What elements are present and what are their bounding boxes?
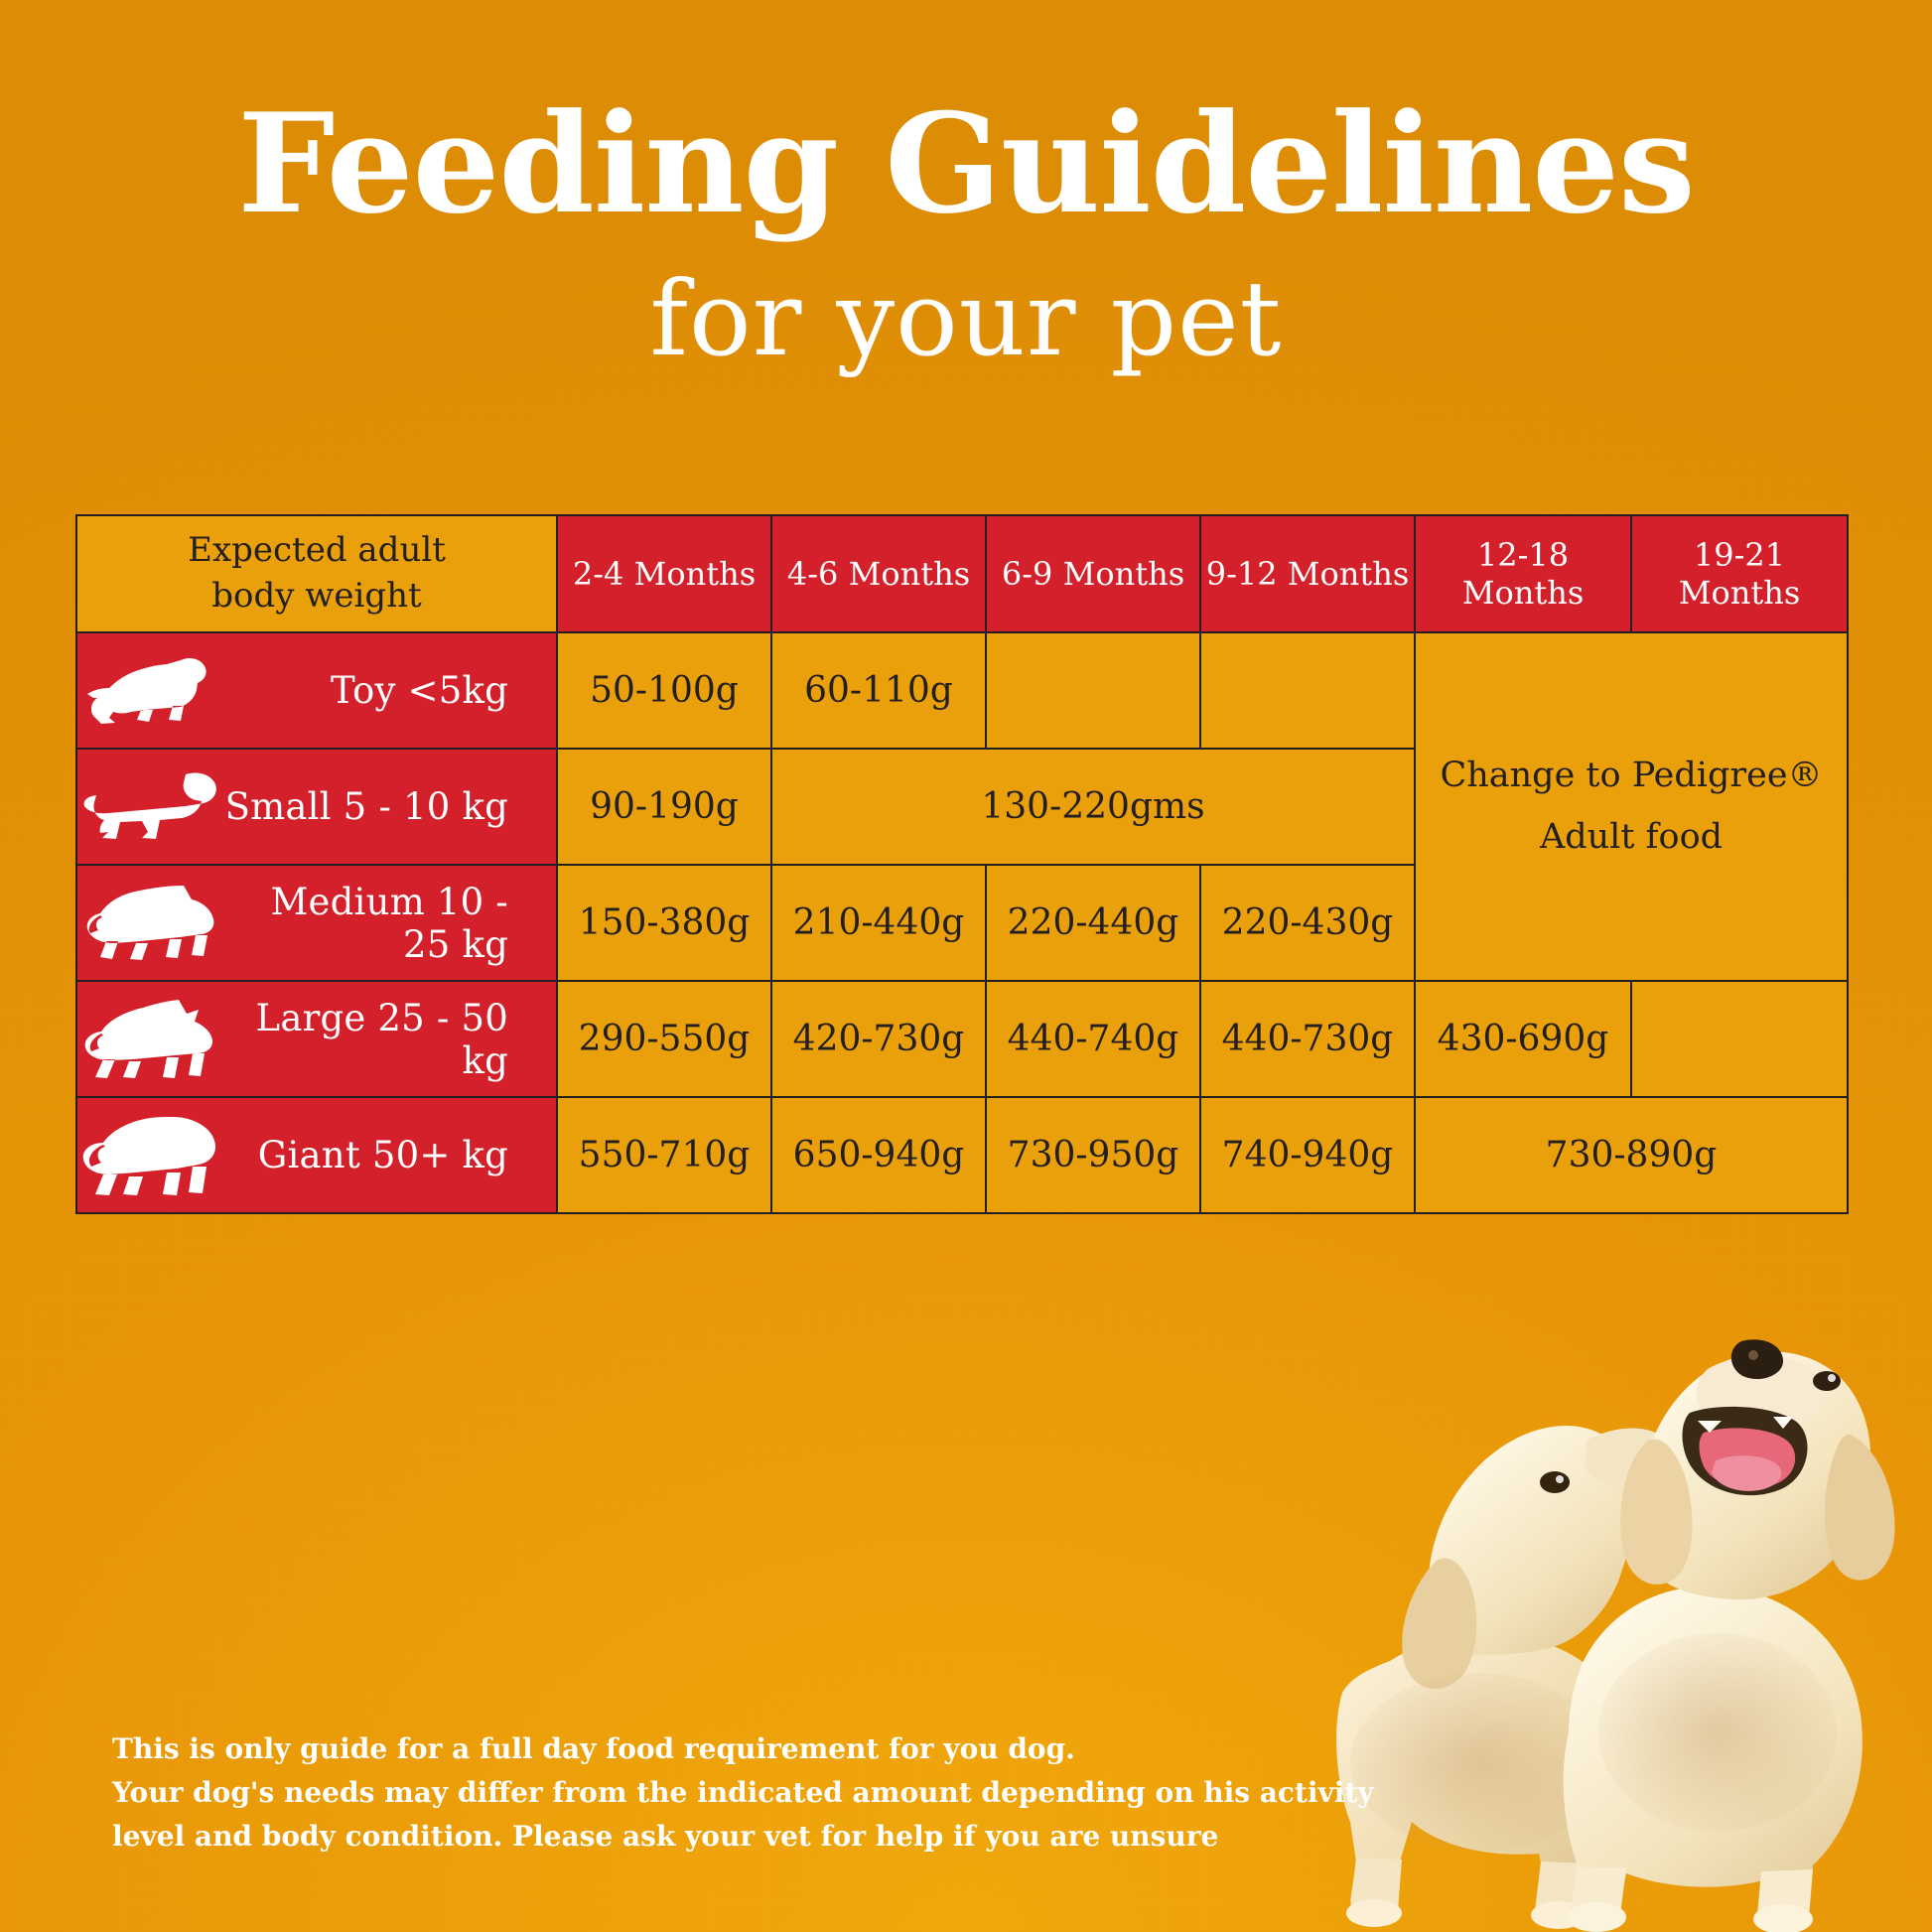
cell-medium-6-9: 220-440g: [986, 865, 1200, 981]
cell-large-2-4: 290-550g: [557, 981, 771, 1097]
cell-giant-2-4: 550-710g: [557, 1097, 771, 1213]
page-title: Feeding Guidelines: [0, 95, 1932, 232]
dog-toy-icon: [77, 648, 224, 734]
cell-medium-9-12: 220-430g: [1200, 865, 1415, 981]
size-cell-giant: Giant 50+ kg: [76, 1097, 557, 1213]
cell-large-4-6: 420-730g: [771, 981, 986, 1097]
disclaimer-line-3: level and body condition. Please ask you…: [112, 1815, 1284, 1859]
dog-giant-icon: [77, 1113, 224, 1198]
disclaimer-line-2: Your dog's needs may differ from the ind…: [112, 1771, 1284, 1815]
table-row: Large 25 - 50 kg 290-550g 420-730g 440-7…: [76, 981, 1848, 1097]
column-header-6-9-months: 6-9 Months: [986, 515, 1200, 632]
cell-toy-6-9: [986, 632, 1200, 749]
cell-giant-9-12: 740-940g: [1200, 1097, 1415, 1213]
column-header-19-21-months: 19-21 Months: [1631, 515, 1848, 632]
size-label-small: Small 5 - 10 kg: [224, 785, 556, 828]
size-label-medium: Medium 10 - 25 kg: [224, 881, 556, 966]
disclaimer-line-1: This is only guide for a full day food r…: [112, 1727, 1284, 1771]
disclaimer-text: This is only guide for a full day food r…: [112, 1727, 1284, 1860]
cell-medium-2-4: 150-380g: [557, 865, 771, 981]
transition-note-line2: Adult food: [1416, 807, 1847, 868]
corner-label-line1: Expected adult: [77, 528, 556, 574]
cell-medium-4-6: 210-440g: [771, 865, 986, 981]
cell-toy-2-4: 50-100g: [557, 632, 771, 749]
puppies-photo: [1320, 1266, 1932, 1932]
size-cell-medium: Medium 10 - 25 kg: [76, 865, 557, 981]
size-cell-toy: Toy <5kg: [76, 632, 557, 749]
cell-toy-9-12: [1200, 632, 1415, 749]
cell-giant-4-6: 650-940g: [771, 1097, 986, 1213]
column-header-12-18-months: 12-18 Months: [1415, 515, 1631, 632]
cell-small-4-12-span: 130-220gms: [771, 749, 1415, 865]
column-header-2-4-months: 2-4 Months: [557, 515, 771, 632]
size-label-toy: Toy <5kg: [224, 669, 556, 712]
dog-medium-icon: [77, 881, 224, 966]
cell-small-2-4: 90-190g: [557, 749, 771, 865]
cell-large-19-21: [1631, 981, 1848, 1097]
cell-giant-12-21-span: 730-890g: [1415, 1097, 1848, 1213]
page-subtitle: for your pet: [0, 254, 1932, 383]
cell-giant-6-9: 730-950g: [986, 1097, 1200, 1213]
table-row: Toy <5kg 50-100g 60-110g Change to Pedig…: [76, 632, 1848, 749]
cell-large-6-9: 440-740g: [986, 981, 1200, 1097]
column-header-9-12-months: 9-12 Months: [1200, 515, 1415, 632]
dog-large-icon: [77, 997, 224, 1082]
transition-note-line1: Change to Pedigree®: [1416, 746, 1847, 806]
transition-note-cell: Change to Pedigree® Adult food: [1415, 632, 1848, 981]
header-block: Feeding Guidelines for your pet: [0, 0, 1932, 383]
size-label-large: Large 25 - 50 kg: [224, 997, 556, 1082]
cell-large-12-18: 430-690g: [1415, 981, 1631, 1097]
table-row: Giant 50+ kg 550-710g 650-940g 730-950g …: [76, 1097, 1848, 1213]
feeding-guidelines-table: Expected adult body weight 2-4 Months 4-…: [75, 514, 1847, 1214]
cell-toy-4-6: 60-110g: [771, 632, 986, 749]
size-cell-small: Small 5 - 10 kg: [76, 749, 557, 865]
dog-small-dachshund-icon: [77, 764, 224, 850]
size-cell-large: Large 25 - 50 kg: [76, 981, 557, 1097]
size-label-giant: Giant 50+ kg: [224, 1134, 556, 1176]
column-header-4-6-months: 4-6 Months: [771, 515, 986, 632]
table-header-row: Expected adult body weight 2-4 Months 4-…: [76, 515, 1848, 632]
cell-large-9-12: 440-730g: [1200, 981, 1415, 1097]
corner-header-cell: Expected adult body weight: [76, 515, 557, 632]
corner-label-line2: body weight: [77, 574, 556, 620]
